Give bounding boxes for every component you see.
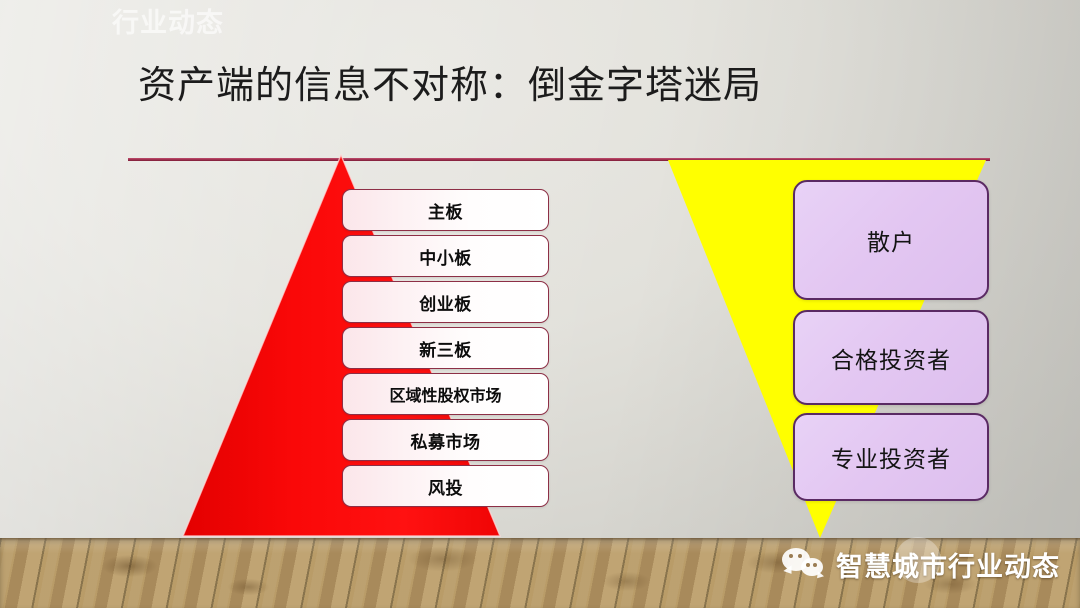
asset-tier-item[interactable]: 风投	[342, 465, 549, 507]
investor-tier-item[interactable]: 散户	[793, 180, 989, 300]
wechat-icon	[782, 544, 828, 584]
asset-tier-item[interactable]: 创业板	[342, 281, 549, 323]
asset-tier-list: 主板 中小板 创业板 新三板 区域性股权市场 私募市场 风投	[342, 189, 549, 511]
asset-tier-label: 私募市场	[411, 428, 481, 453]
asset-tier-label: 中小板	[419, 244, 472, 269]
slide-canvas: 资产端的信息不对称：倒金字塔迷局 主板 中小	[0, 0, 1080, 608]
asset-tier-item[interactable]: 主板	[342, 189, 549, 231]
asset-tier-item[interactable]: 私募市场	[342, 419, 549, 461]
investor-tier-label: 合格投资者	[831, 341, 951, 375]
asset-tier-label: 新三板	[419, 336, 472, 361]
investor-tier-item[interactable]: 专业投资者	[793, 413, 989, 501]
asset-tier-label: 风投	[428, 474, 463, 499]
investor-tier-label: 散户	[867, 223, 915, 257]
investor-tier-item[interactable]: 合格投资者	[793, 310, 989, 405]
asset-tier-item[interactable]: 区域性股权市场	[342, 373, 549, 415]
page-title: 资产端的信息不对称：倒金字塔迷局	[138, 62, 762, 110]
asset-tier-item[interactable]: 新三板	[342, 327, 549, 369]
asset-tier-label: 创业板	[419, 290, 472, 315]
watermark-account-name: 智慧城市行业动态	[836, 545, 1060, 584]
watermark: 智慧城市行业动态	[782, 541, 1060, 587]
investor-tier-list: 散户 合格投资者 专业投资者	[793, 180, 989, 501]
asset-tier-label: 主板	[428, 198, 463, 223]
asset-tier-label: 区域性股权市场	[389, 382, 501, 406]
investor-tier-label: 专业投资者	[831, 440, 951, 474]
asset-tier-item[interactable]: 中小板	[342, 235, 549, 277]
